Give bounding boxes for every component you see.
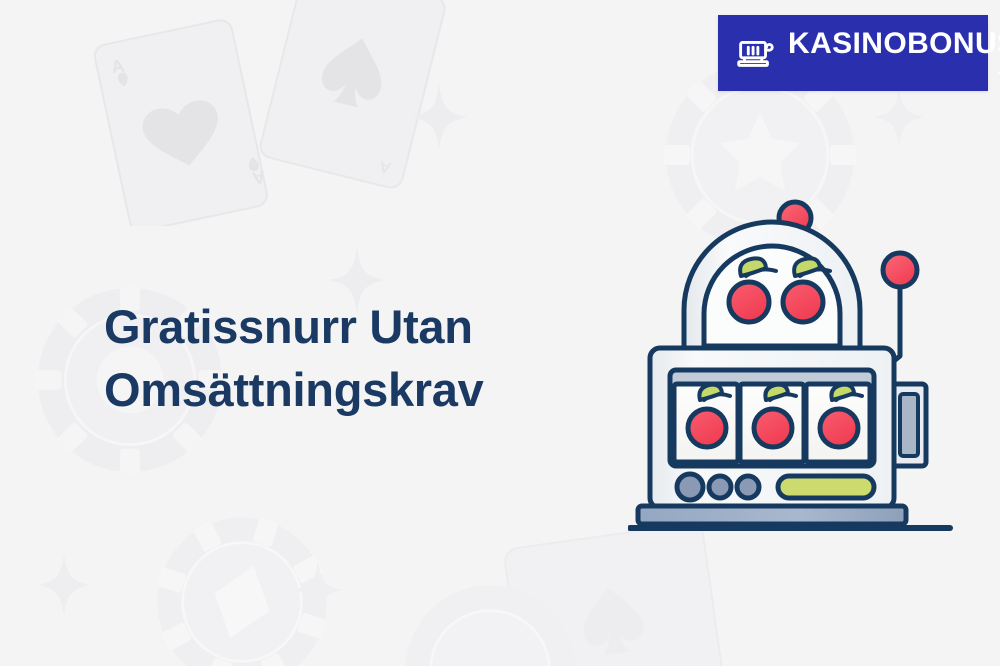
sparkle-mid-bottom <box>292 560 344 620</box>
svg-text:A: A <box>109 55 126 77</box>
logo-brand-name: KASINOBONUS <box>788 29 1000 59</box>
svg-text:A: A <box>250 166 267 188</box>
page-title: Gratissnurr Utan Omsättningskrav <box>104 296 624 421</box>
sparkle-top-center <box>408 82 470 152</box>
ace-of-spades-card: A A <box>245 0 465 200</box>
page-title-line-1: Gratissnurr Utan <box>104 296 624 359</box>
site-logo[interactable]: KASINOBONUS .AI <box>718 15 988 91</box>
poker-chip-bottom-right <box>400 580 580 666</box>
ace-of-hearts-card: A A <box>88 16 278 226</box>
hero-banner: A A A A <box>0 0 1000 666</box>
blank-card-bottom-right <box>492 516 752 666</box>
page-title-line-2: Omsättningskrav <box>104 359 624 422</box>
sparkle-top-right <box>872 86 926 148</box>
slot-machine-icon <box>732 30 778 76</box>
poker-chip-diamond <box>152 512 332 666</box>
slot-machine-illustration <box>628 188 958 533</box>
sparkle-bottom-left <box>36 552 92 618</box>
svg-text:A: A <box>377 157 393 176</box>
